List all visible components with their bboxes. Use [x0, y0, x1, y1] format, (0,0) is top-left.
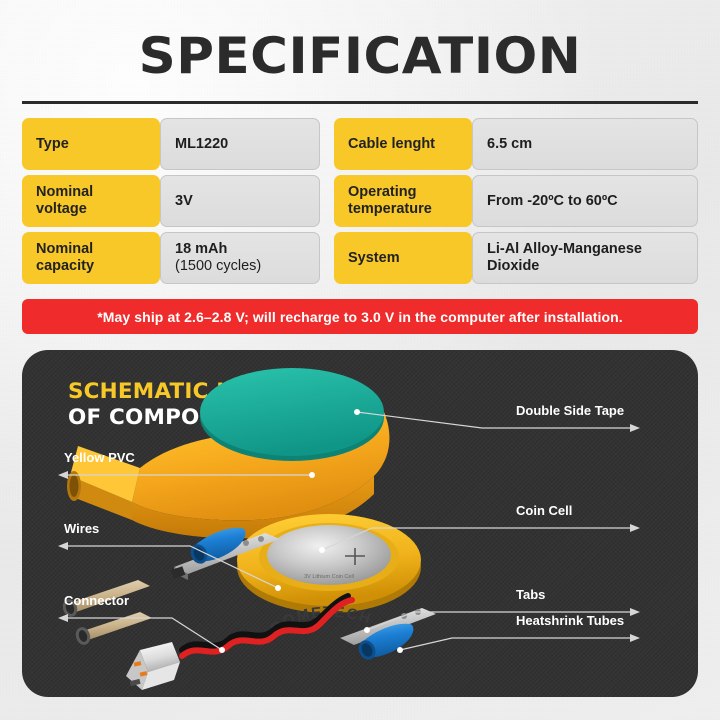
spec-value-label: From -20ºC to 60ºC: [487, 193, 618, 210]
spec-value-cable-lenght: 6.5 cm: [472, 118, 698, 170]
spec-key-label-line1: Nominal: [36, 184, 93, 201]
heatshrink-tube-beige-2: [74, 612, 152, 647]
spec-value-sublabel: Dioxide: [487, 258, 642, 275]
warning-text: *May ship at 2.6–2.8 V; will recharge to…: [97, 309, 623, 325]
spec-key-label: Cable lenght: [348, 136, 435, 153]
spec-key-label-line2: capacity: [36, 258, 94, 275]
spec-key-cable-lenght: Cable lenght: [334, 118, 472, 170]
column-gap: [320, 175, 334, 227]
spec-value-system: Li-Al Alloy-Manganese Dioxide: [472, 232, 698, 284]
spec-key-nominal-voltage: Nominal voltage: [22, 175, 160, 227]
callout-label-double-side-tape: Double Side Tape: [516, 403, 624, 418]
spec-value-type: ML1220: [160, 118, 320, 170]
spec-value-nominal-capacity: 18 mAh (1500 cycles): [160, 232, 320, 284]
spec-value-label: 18 mAh: [175, 241, 261, 258]
spec-key-label-line1: Operating: [348, 184, 432, 201]
title-divider: [22, 101, 698, 104]
connector-component: [126, 642, 180, 690]
column-gap: [320, 232, 334, 284]
callout-label-tabs: Tabs: [516, 587, 545, 602]
callout-label-connector: Connector: [64, 593, 129, 608]
battery-sub-text: 3V Lithium Coin Cell: [304, 574, 354, 580]
spec-key-label-line2: voltage: [36, 201, 93, 218]
page-background: SPECIFICATION Type ML1220 Cable lenght 6…: [0, 0, 720, 720]
spec-key-label: System: [348, 250, 400, 267]
spec-key-label: Type: [36, 136, 69, 153]
spec-value-label: Li-Al Alloy-Manganese: [487, 241, 642, 258]
spec-key-nominal-capacity: Nominal capacity: [22, 232, 160, 284]
spec-key-system: System: [334, 232, 472, 284]
column-gap: [320, 118, 334, 170]
callout-label-wires: Wires: [64, 521, 99, 536]
callout-label-heatshrink-tubes: Heatshrink Tubes: [516, 613, 624, 628]
spec-key-label-line2: temperature: [348, 201, 432, 218]
spec-value-operating-temperature: From -20ºC to 60ºC: [472, 175, 698, 227]
warning-banner: *May ship at 2.6–2.8 V; will recharge to…: [22, 299, 698, 334]
spec-value-label: ML1220: [175, 136, 228, 153]
spec-key-operating-temperature: Operating temperature: [334, 175, 472, 227]
specification-table: Type ML1220 Cable lenght 6.5 cm Nominal …: [22, 118, 698, 284]
spec-value-nominal-voltage: 3V: [160, 175, 320, 227]
spec-key-label-line1: Nominal: [36, 241, 94, 258]
spec-value-sublabel: (1500 cycles): [175, 258, 261, 275]
callout-label-coin-cell: Coin Cell: [516, 503, 572, 518]
page-title: SPECIFICATION: [0, 28, 720, 84]
schematic-panel: SCHEMATIC LAYOUT OF COMPONENTS: [22, 350, 698, 697]
callout-label-yellow-pvc: Yellow PVC: [64, 450, 135, 465]
spec-value-label: 6.5 cm: [487, 136, 532, 153]
spec-value-label: 3V: [175, 193, 193, 210]
spec-key-type: Type: [22, 118, 160, 170]
